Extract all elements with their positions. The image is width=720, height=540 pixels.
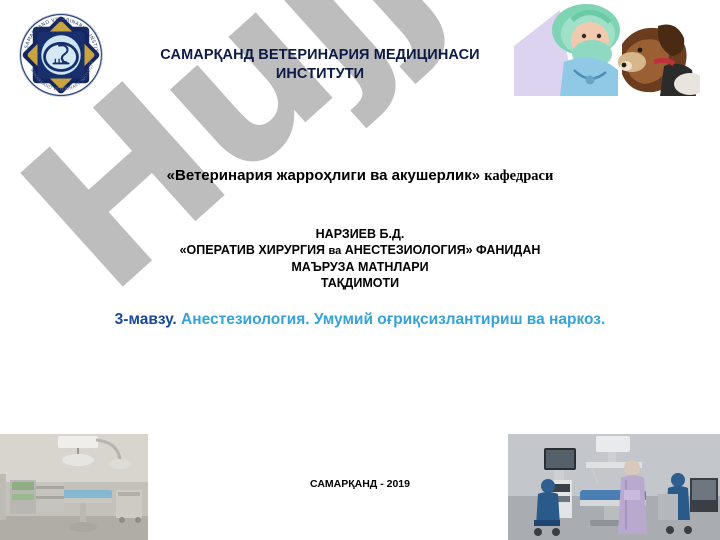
- lecture-subject-suffix: АНЕСТЕЗИОЛОГИЯ» ФАНИДАН: [341, 243, 540, 257]
- department-line: «Ветеринария жарроҳлиги ва акушерлик» ка…: [60, 166, 660, 186]
- photo-empty-operating-room-image: [0, 434, 148, 540]
- lecture-line3: МАЪРУЗА МАТНЛАРИ: [60, 259, 660, 275]
- lecture-subject-prefix: «ОПЕРАТИВ ХИРУРГИЯ: [180, 243, 329, 257]
- photo-vet-with-dog: [514, 0, 720, 96]
- department-suffix: кафедраси: [484, 168, 553, 184]
- footer-line: САМАРҚАНД - 2019: [160, 478, 560, 490]
- lecture-info-block: НАРЗИЕВ Б.Д. «ОПЕРАТИВ ХИРУРГИЯ ва АНЕСТ…: [60, 226, 660, 291]
- institute-title-line1: САМАРҚАНД ВЕТЕРИНАРИЯ МЕДИЦИНАСИ: [120, 46, 520, 65]
- institute-title: САМАРҚАНД ВЕТЕРИНАРИЯ МЕДИЦИНАСИ ИНСТИТУ…: [120, 46, 520, 84]
- lecture-line4: ТАҚДИМОТИ: [60, 275, 660, 291]
- lecture-subject-conjunction: ва: [329, 245, 342, 257]
- topic-line: 3-мавзу. Анестезиология. Умумий оғриқсиз…: [80, 308, 640, 331]
- institute-logo-icon: SAMARQAND VETERINARIYA INSTITUTI SAMARKA…: [14, 8, 108, 102]
- department-name: «Ветеринария жарроҳлиги ва акушерлик»: [167, 167, 480, 184]
- topic-prefix: 3-мавзу.: [115, 311, 177, 328]
- photo-empty-operating-room: [0, 434, 148, 540]
- presentation-slide: Hujjat24: [0, 0, 720, 540]
- lecture-subject: «ОПЕРАТИВ ХИРУРГИЯ ва АНЕСТЕЗИОЛОГИЯ» ФА…: [60, 242, 660, 259]
- lecture-author: НАРЗИЕВ Б.Д.: [60, 226, 660, 242]
- topic-body: Анестезиология. Умумий оғриқсизлантириш …: [181, 311, 605, 328]
- institute-logo: SAMARQAND VETERINARIYA INSTITUTI SAMARKA…: [14, 8, 108, 102]
- photo-vet-with-dog-image: [514, 0, 720, 96]
- institute-title-line2: ИНСТИТУТИ: [120, 65, 520, 84]
